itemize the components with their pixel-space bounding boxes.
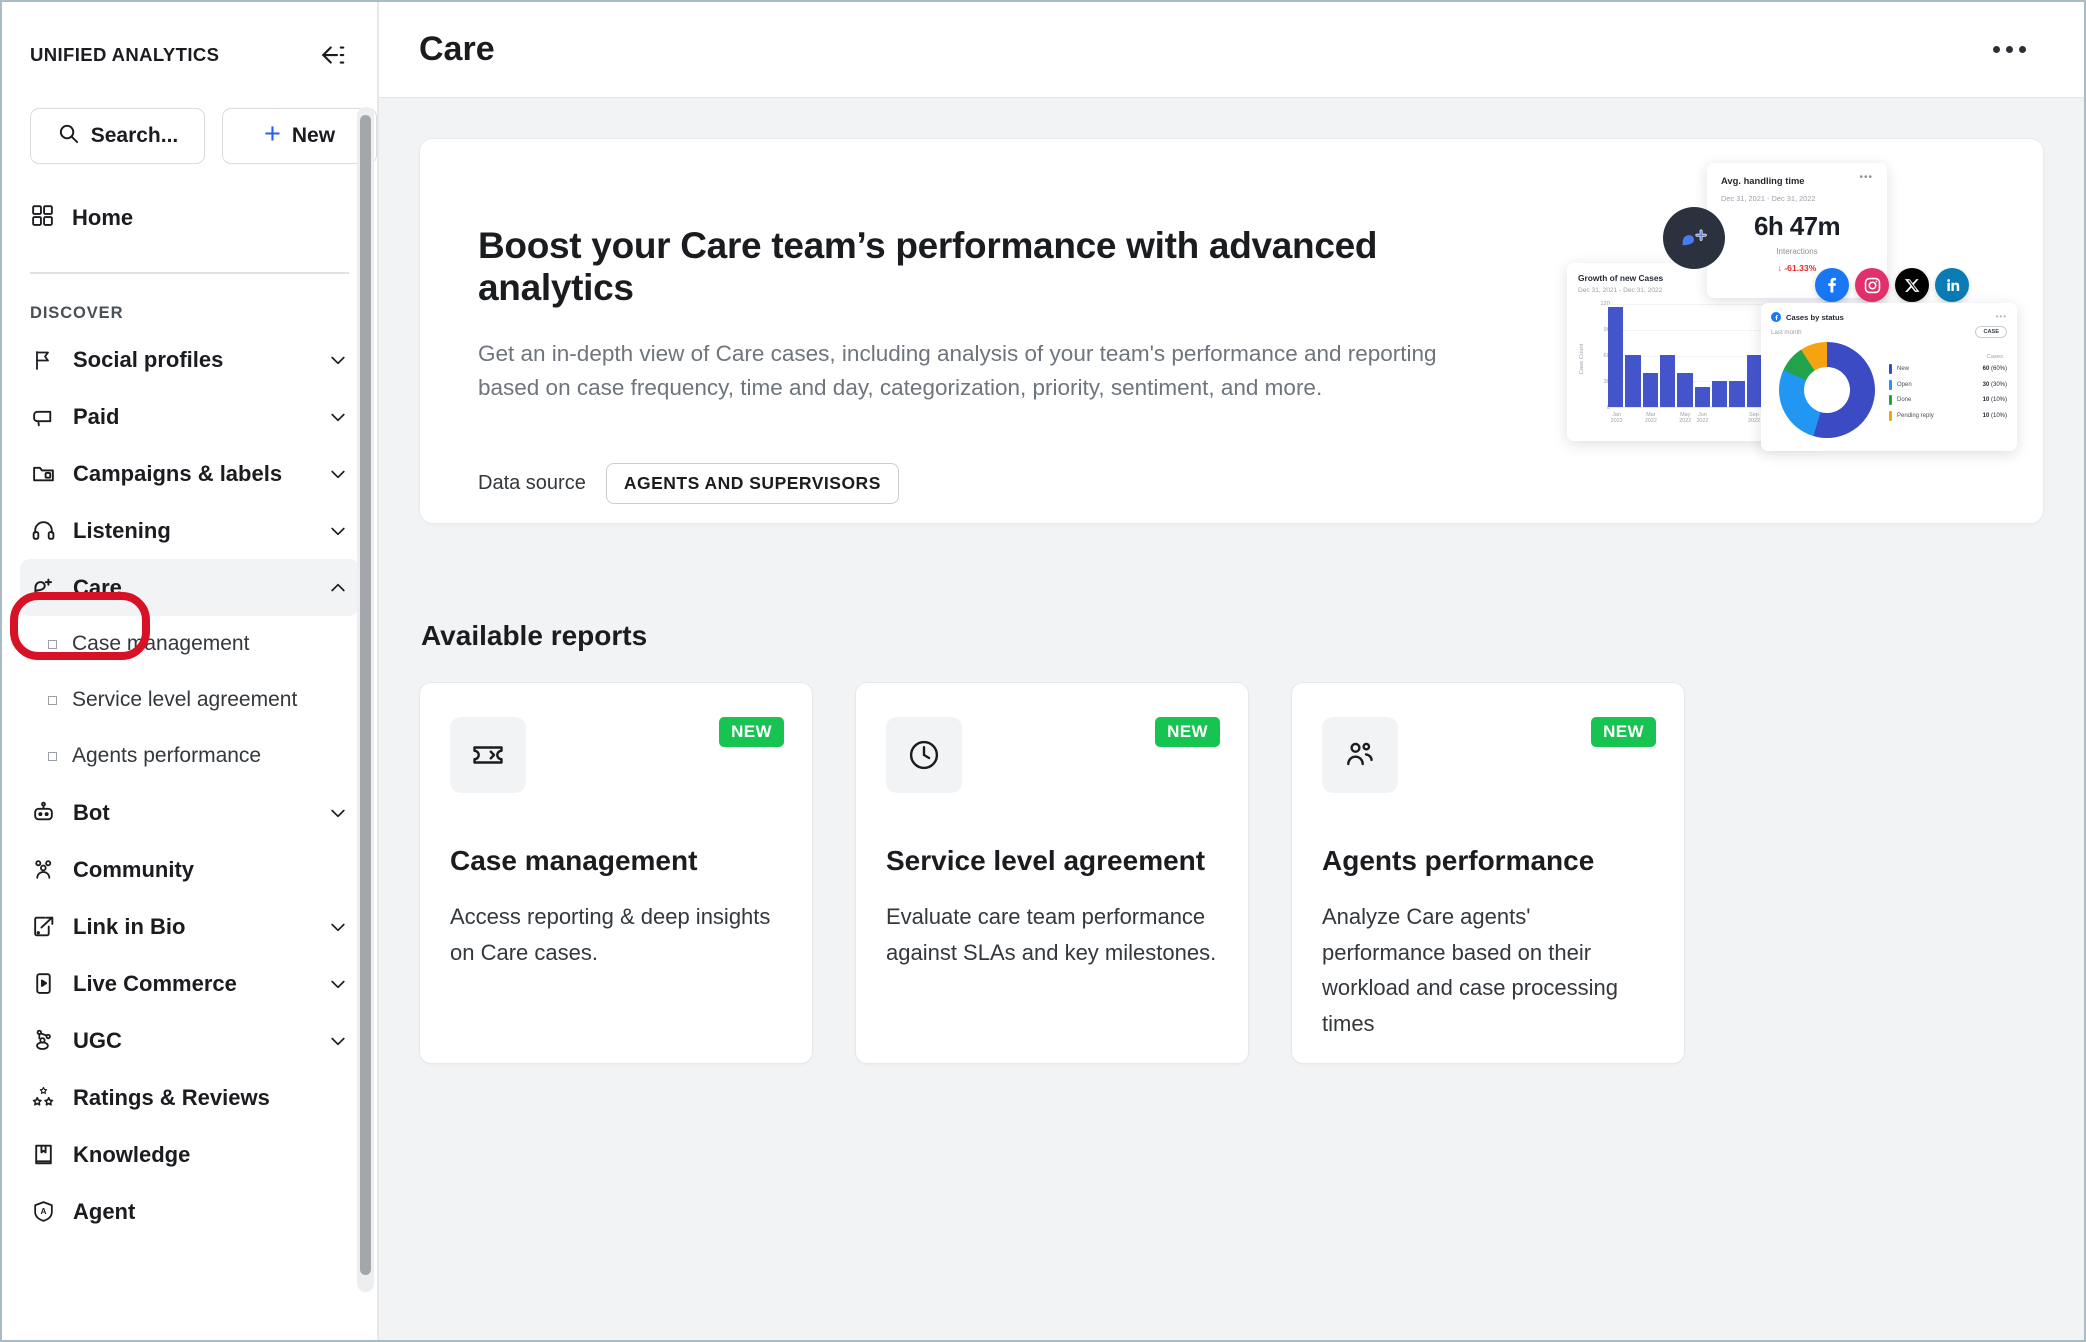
bar-1 [1625,355,1640,407]
donut-card-header: Cases by status ••• [1771,312,2007,322]
x-tick: Mar 2022 [1642,412,1659,424]
bar-8 [1747,355,1762,407]
sidebar-item-home[interactable]: Home [2,186,377,250]
x-tick [1711,412,1728,424]
report-card-case-management[interactable]: NEW Case management Access reporting & d… [419,682,813,1064]
chevron-down-icon[interactable] [327,406,349,428]
status-badge: NEW [1591,717,1656,747]
sidebar-title: UNIFIED ANALYTICS [30,44,219,66]
chevron-up-icon[interactable] [327,577,349,599]
donut-legend: Cases New60 (60%)Open30 (30%)Done10 (10%… [1875,354,2007,426]
report-card-title: Agents performance [1322,845,1654,877]
hero-heading: Boost your Care team’s performance with … [478,225,1460,309]
megaphone-icon [30,404,56,430]
new-button[interactable]: + New [222,108,377,164]
legend-swatch [1889,364,1892,374]
chevron-down-icon[interactable] [327,349,349,371]
people-icon [1322,717,1398,793]
kebab-menu-icon[interactable] [1983,36,2036,63]
sidebar-subitem-label: Service level agreement [72,688,297,712]
bar-3 [1660,355,1675,407]
headphones-icon [30,518,56,544]
chart-subtitle: Last month [1771,329,1802,336]
sidebar-item-community[interactable]: Community [20,841,359,898]
community-people-icon [30,857,56,883]
donut-card-title-group: Cases by status [1771,312,1844,322]
instagram-icon [1855,268,1889,302]
sidebar-header: UNIFIED ANALYTICS [2,2,377,72]
facebook-icon [1771,312,1781,322]
metric-title: Avg. handling time [1721,175,1805,186]
legend-header: Cases [1889,354,2007,360]
legend-label: New [1897,366,1978,372]
sidebar-item-label: Live Commerce [73,971,310,997]
chevron-down-icon[interactable] [327,916,349,938]
search-icon [57,122,80,151]
sidebar-item-link-in-bio[interactable]: Link in Bio [20,898,359,955]
sidebar-item-label: UGC [73,1028,310,1054]
flag-icon [30,347,56,373]
y-axis: Case Count 120 90 60 30 0 [1588,304,1610,408]
sidebar-item-live-commerce[interactable]: Live Commerce [20,955,359,1012]
x-tick: Jun 2022 [1694,412,1711,424]
sidebar-item-campaigns-labels[interactable]: Campaigns & labels [20,445,359,502]
x-tick: Sep 2022 [1745,412,1762,424]
chart-card-cases-by-status: Cases by status ••• Last month CASE Case… [1761,303,2017,451]
chevron-down-icon[interactable] [327,802,349,824]
application-window: UNIFIED ANALYTICS Search... + New [0,0,2086,1342]
sidebar-item-paid[interactable]: Paid [20,388,359,445]
report-card-service-level-agreement[interactable]: NEW Service level agreement Evaluate car… [855,682,1249,1064]
chart-title: Cases by status [1786,313,1844,322]
sidebar-item-label: Link in Bio [73,914,310,940]
y-axis-label: Case Count [1579,344,1585,375]
legend-swatch [1889,411,1892,421]
page-content: Boost your Care team’s performance with … [379,98,2084,1340]
hero-illustration: Growth of new Cases Dec 31, 2021 - Dec 3… [1567,163,2019,463]
report-card-title: Service level agreement [886,845,1218,877]
play-video-icon [30,971,56,997]
ugc-share-icon [30,1028,56,1054]
donut-card-subheader: Last month CASE [1771,326,2007,338]
legend-value: 10 (10%) [1983,397,2007,403]
sidebar-item-care[interactable]: Care [20,559,359,616]
x-tick: May 2022 [1677,412,1694,424]
legend-row: Open30 (30%) [1889,380,2007,390]
robot-icon [30,800,56,826]
social-network-icons [1815,268,1969,302]
x-tick [1660,412,1677,424]
sidebar-subitem-service-level-agreement[interactable]: Service level agreement [20,672,359,728]
metric-date-range: Dec 31, 2021 - Dec 31, 2022 [1721,194,1873,203]
legend-row: Pending reply10 (10%) [1889,411,2007,421]
legend-swatch [1889,395,1892,405]
status-badge: NEW [1155,717,1220,747]
sidebar-subitem-label: Case management [72,632,249,656]
sidebar-item-label: Social profiles [73,347,310,373]
sidebar-item-label: Agent [73,1199,349,1225]
metric-caption: Interactions [1721,247,1873,256]
chevron-down-icon[interactable] [327,1030,349,1052]
report-card-agents-performance[interactable]: NEW Agents performance Analyze Care agen… [1291,682,1685,1064]
search-placeholder: Search... [91,124,179,148]
bullet-square-icon [48,696,57,705]
svg-text:A: A [40,1206,46,1216]
bar-4 [1677,373,1692,407]
sidebar-scrollbar-thumb[interactable] [360,115,371,1275]
sidebar-item-knowledge[interactable]: Knowledge [20,1126,359,1183]
sidebar-item-label: Paid [73,404,310,430]
data-source-label: Data source [478,472,586,495]
sidebar-item-social-profiles[interactable]: Social profiles [20,331,359,388]
donut-body: Cases New60 (60%)Open30 (30%)Done10 (10%… [1771,342,2007,438]
bar-7 [1729,381,1744,407]
facebook-icon [1815,268,1849,302]
add-profile-avatar-icon [1663,207,1725,269]
donut-chart [1779,342,1875,438]
legend-label: Pending reply [1897,413,1978,419]
grid-icon [30,203,55,234]
main-content: Care Boost your Care team’s performance … [379,2,2084,1340]
legend-row: Done10 (10%) [1889,395,2007,405]
x-tick [1728,412,1745,424]
x-tick [1625,412,1642,424]
hero-text-block: Boost your Care team’s performance with … [420,139,1460,504]
bullet-square-icon [48,752,57,761]
bar-0 [1608,307,1623,407]
sidebar-actions: Search... + New [2,72,377,164]
sidebar-item-label: Care [73,575,310,601]
clock-icon [886,717,962,793]
page-title: Care [419,30,495,69]
care-heart-plus-icon [30,575,56,601]
legend-value: 30 (30%) [1983,382,2007,388]
sidebar-subitem-agents-performance[interactable]: Agents performance [20,728,359,784]
report-card-description: Analyze Care agents' performance based o… [1322,899,1654,1042]
sidebar-item-label: Home [72,205,133,231]
report-card-title: Case management [450,845,782,877]
legend-row: New60 (60%) [1889,364,2007,374]
bar-2 [1643,373,1658,407]
sidebar-item-bot[interactable]: Bot [20,784,359,841]
legend-value: 60 (60%) [1983,366,2007,372]
legend-label: Done [1897,397,1978,403]
folder-tag-icon [30,461,56,487]
top-bar: Care [379,2,2084,98]
sidebar-item-ratings-reviews[interactable]: Ratings & Reviews [20,1069,359,1126]
search-input[interactable]: Search... [30,108,205,164]
report-cards-list: NEW Case management Access reporting & d… [419,682,2044,1064]
chevron-down-icon[interactable] [327,520,349,542]
sidebar-item-ugc[interactable]: UGC [20,1012,359,1069]
data-source-row: Data source AGENTS AND SUPERVISORS [478,463,1460,504]
hero-banner: Boost your Care team’s performance with … [419,138,2044,524]
hero-description: Get an in-depth view of Care cases, incl… [478,337,1460,405]
kebab-menu-icon[interactable]: ••• [1859,175,1873,181]
sidebar-item-agent[interactable]: A Agent [20,1183,359,1240]
sidebar-subitem-case-management[interactable]: Case management [20,616,359,672]
sidebar-item-label: Community [73,857,349,883]
legend-swatch [1889,380,1892,390]
available-reports-heading: Available reports [421,620,2044,652]
sidebar: UNIFIED ANALYTICS Search... + New [2,2,379,1340]
report-card-description: Evaluate care team performance against S… [886,899,1218,970]
plus-icon: + [264,120,281,149]
sidebar-item-label: Knowledge [73,1142,349,1168]
sidebar-subitem-label: Agents performance [72,744,261,768]
ticket-icon [450,717,526,793]
x-twitter-icon [1895,268,1929,302]
sidebar-section-discover: DISCOVER [2,274,377,331]
sidebar-item-label: Ratings & Reviews [73,1085,349,1111]
link-external-icon [30,914,56,940]
chevron-down-icon[interactable] [327,463,349,485]
sidebar-item-label: Listening [73,518,310,544]
sidebar-scrollbar[interactable] [357,107,374,1292]
book-bookmark-icon [30,1142,56,1168]
legend-value: 10 (10%) [1983,413,2007,419]
metric-value: 6h 47m [1721,211,1873,242]
collapse-panel-icon[interactable] [315,38,349,72]
report-card-description: Access reporting & deep insights on Care… [450,899,782,970]
kebab-menu-icon[interactable]: ••• [1996,315,2007,320]
sidebar-item-label: Bot [73,800,310,826]
legend-label: Open [1897,382,1978,388]
sidebar-item-listening[interactable]: Listening [20,502,359,559]
bar-6 [1712,381,1727,407]
sidebar-item-label: Campaigns & labels [73,461,310,487]
status-badge: NEW [719,717,784,747]
new-button-label: New [292,124,335,148]
bar-5 [1695,387,1710,407]
shield-a-icon: A [30,1199,56,1225]
linkedin-icon [1935,268,1969,302]
stars-icon [30,1085,56,1111]
chevron-down-icon[interactable] [327,973,349,995]
data-source-chip[interactable]: AGENTS AND SUPERVISORS [606,463,899,504]
bullet-square-icon [48,640,57,649]
metric-card-header: Avg. handling time ••• [1721,175,1873,186]
case-filter-pill[interactable]: CASE [1975,326,2007,338]
x-tick: Jan 2022 [1608,412,1625,424]
